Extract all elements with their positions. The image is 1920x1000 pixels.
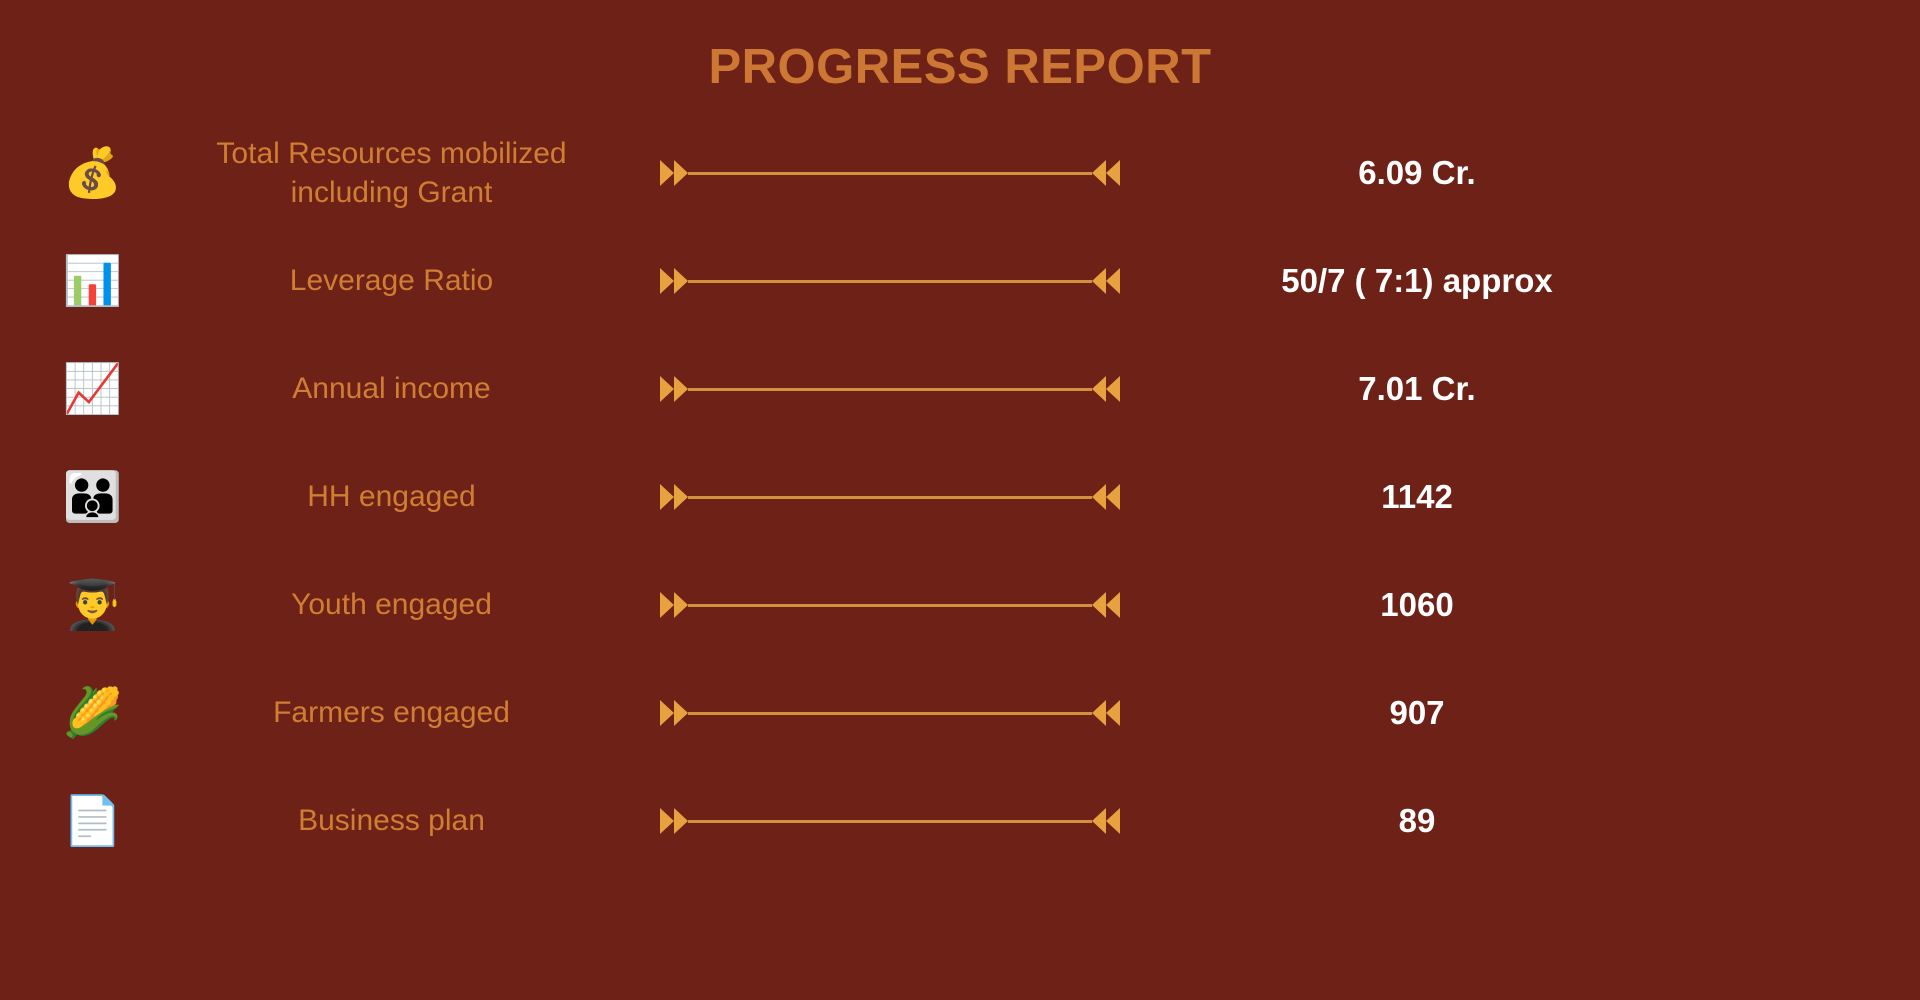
divider-rule xyxy=(660,376,1120,402)
row-value: 6.09 Cr. xyxy=(1160,154,1920,192)
row-icon-cell: 🌽 xyxy=(0,689,185,737)
row-divider xyxy=(620,808,1160,834)
rewind-icon xyxy=(1092,808,1120,834)
list-item: 📈 Annual income 7.01 Cr. xyxy=(0,335,1920,443)
family-icon: 👪 xyxy=(63,473,123,521)
divider-line xyxy=(688,172,1092,175)
fast-forward-icon xyxy=(660,268,688,294)
fast-forward-icon xyxy=(660,808,688,834)
divider-rule xyxy=(660,268,1120,294)
money-bag-icon: 💰 xyxy=(63,149,123,197)
row-icon-cell: 👪 xyxy=(0,473,185,521)
list-item: 🌽 Farmers engaged 907 xyxy=(0,659,1920,767)
divider-rule xyxy=(660,700,1120,726)
row-divider xyxy=(620,376,1160,402)
ear-of-corn-icon: 🌽 xyxy=(63,689,123,737)
divider-line xyxy=(688,280,1092,283)
document-icon: 📄 xyxy=(63,797,123,845)
divider-line xyxy=(688,712,1092,715)
row-label: HH engaged xyxy=(185,477,620,517)
fast-forward-icon xyxy=(660,484,688,510)
row-value: 1142 xyxy=(1160,478,1920,516)
row-divider xyxy=(620,484,1160,510)
chart-increasing-icon: 📈 xyxy=(63,365,123,413)
list-item: 📄 Business plan 89 xyxy=(0,767,1920,875)
divider-line xyxy=(688,496,1092,499)
row-icon-cell: 📄 xyxy=(0,797,185,845)
row-value: 907 xyxy=(1160,694,1920,732)
graduate-icon: 👨‍🎓 xyxy=(63,581,123,629)
divider-line xyxy=(688,388,1092,391)
rewind-icon xyxy=(1092,160,1120,186)
row-value: 50/7 ( 7:1) approx xyxy=(1160,262,1920,300)
rewind-icon xyxy=(1092,268,1120,294)
progress-rows-list: 💰 Total Resources mobilized including Gr… xyxy=(0,119,1920,875)
row-icon-cell: 💰 xyxy=(0,149,185,197)
row-divider xyxy=(620,592,1160,618)
row-label: Business plan xyxy=(185,801,620,841)
fast-forward-icon xyxy=(660,160,688,186)
fast-forward-icon xyxy=(660,700,688,726)
divider-line xyxy=(688,604,1092,607)
divider-rule xyxy=(660,808,1120,834)
row-value: 89 xyxy=(1160,802,1920,840)
rewind-icon xyxy=(1092,700,1120,726)
row-label: Youth engaged xyxy=(185,585,620,625)
row-label: Total Resources mobilized including Gran… xyxy=(185,134,620,214)
list-item: 👪 HH engaged 1142 xyxy=(0,443,1920,551)
progress-report-slide: PROGRESS REPORT 💰 Total Resources mobili… xyxy=(0,0,1920,1000)
list-item: 👨‍🎓 Youth engaged 1060 xyxy=(0,551,1920,659)
row-divider xyxy=(620,700,1160,726)
list-item: 💰 Total Resources mobilized including Gr… xyxy=(0,119,1920,227)
row-divider xyxy=(620,268,1160,294)
row-label: Farmers engaged xyxy=(185,693,620,733)
divider-line xyxy=(688,820,1092,823)
row-icon-cell: 👨‍🎓 xyxy=(0,581,185,629)
row-value: 7.01 Cr. xyxy=(1160,370,1920,408)
row-value: 1060 xyxy=(1160,586,1920,624)
row-icon-cell: 📊 xyxy=(0,257,185,305)
rewind-icon xyxy=(1092,484,1120,510)
divider-rule xyxy=(660,160,1120,186)
list-item: 📊 Leverage Ratio 50/7 ( 7:1) approx xyxy=(0,227,1920,335)
divider-rule xyxy=(660,592,1120,618)
bar-chart-icon: 📊 xyxy=(63,257,123,305)
page-title: PROGRESS REPORT xyxy=(0,0,1920,93)
row-divider xyxy=(620,160,1160,186)
fast-forward-icon xyxy=(660,592,688,618)
row-icon-cell: 📈 xyxy=(0,365,185,413)
row-label: Leverage Ratio xyxy=(185,261,620,301)
divider-rule xyxy=(660,484,1120,510)
rewind-icon xyxy=(1092,592,1120,618)
fast-forward-icon xyxy=(660,376,688,402)
row-label: Annual income xyxy=(185,369,620,409)
rewind-icon xyxy=(1092,376,1120,402)
